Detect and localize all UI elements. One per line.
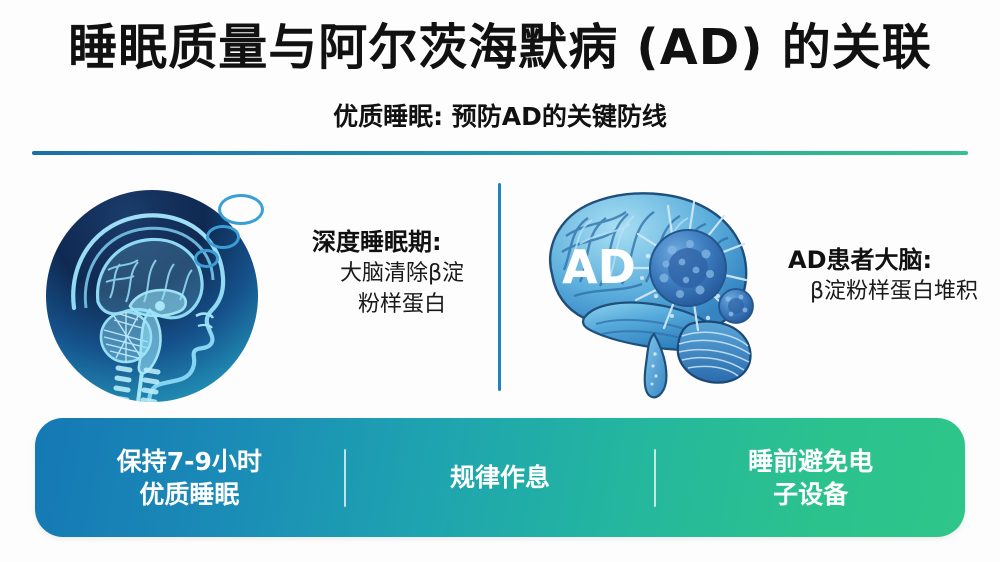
header-divider (32, 151, 968, 155)
amyloid-plaque-small (719, 289, 753, 323)
page-subtitle: 优质睡眠: 预防AD的关键防线 (0, 100, 1000, 134)
recommendation-item-1-line1: 保持7-9小时 (45, 445, 334, 478)
ad-brain-callout-heading: AD患者大脑: (788, 244, 1000, 276)
brain-illustration-icon: AD (522, 178, 807, 403)
recommendation-item-3: 睡前避免电 子设备 (656, 445, 965, 511)
sleeping-head-figure (46, 176, 286, 406)
ad-brain-figure: AD (522, 178, 807, 403)
recommendation-item-1-line2: 优质睡眠 (45, 478, 334, 511)
recommendation-item-2: 规律作息 (346, 461, 655, 494)
deep-sleep-callout-body-line1: 大脑清除β淀 (312, 258, 492, 289)
ad-brain-callout-body: β淀粉样蛋白堆积 (788, 276, 1000, 307)
panel-divider (498, 183, 501, 391)
infographic-canvas: 睡眠质量与阿尔茨海默病 (AD) 的关联 优质睡眠: 预防AD的关键防线 (0, 0, 1000, 562)
deep-sleep-callout: 深度睡眠期: 大脑清除β淀 粉样蛋白 (312, 226, 492, 320)
recommendations-banner: 保持7-9小时 优质睡眠 规律作息 睡前避免电 子设备 (35, 418, 965, 537)
sleep-bubble-small-icon (194, 249, 219, 268)
recommendation-item-2-line1: 规律作息 (356, 461, 645, 494)
page-title: 睡眠质量与阿尔茨海默病 (AD) 的关联 (0, 18, 1000, 78)
sleep-bubble-large-icon (218, 194, 264, 225)
recommendation-item-3-line1: 睡前避免电 (666, 445, 955, 478)
deep-sleep-callout-heading: 深度睡眠期: (312, 226, 492, 258)
deep-sleep-callout-body-line2: 粉样蛋白 (312, 289, 492, 320)
recommendation-item-1: 保持7-9小时 优质睡眠 (35, 445, 344, 511)
brain-ad-label: AD (562, 240, 636, 294)
sleep-bubble-medium-icon (206, 225, 240, 249)
ad-brain-callout: AD患者大脑: β淀粉样蛋白堆积 (788, 244, 1000, 307)
recommendation-item-3-line2: 子设备 (666, 478, 955, 511)
